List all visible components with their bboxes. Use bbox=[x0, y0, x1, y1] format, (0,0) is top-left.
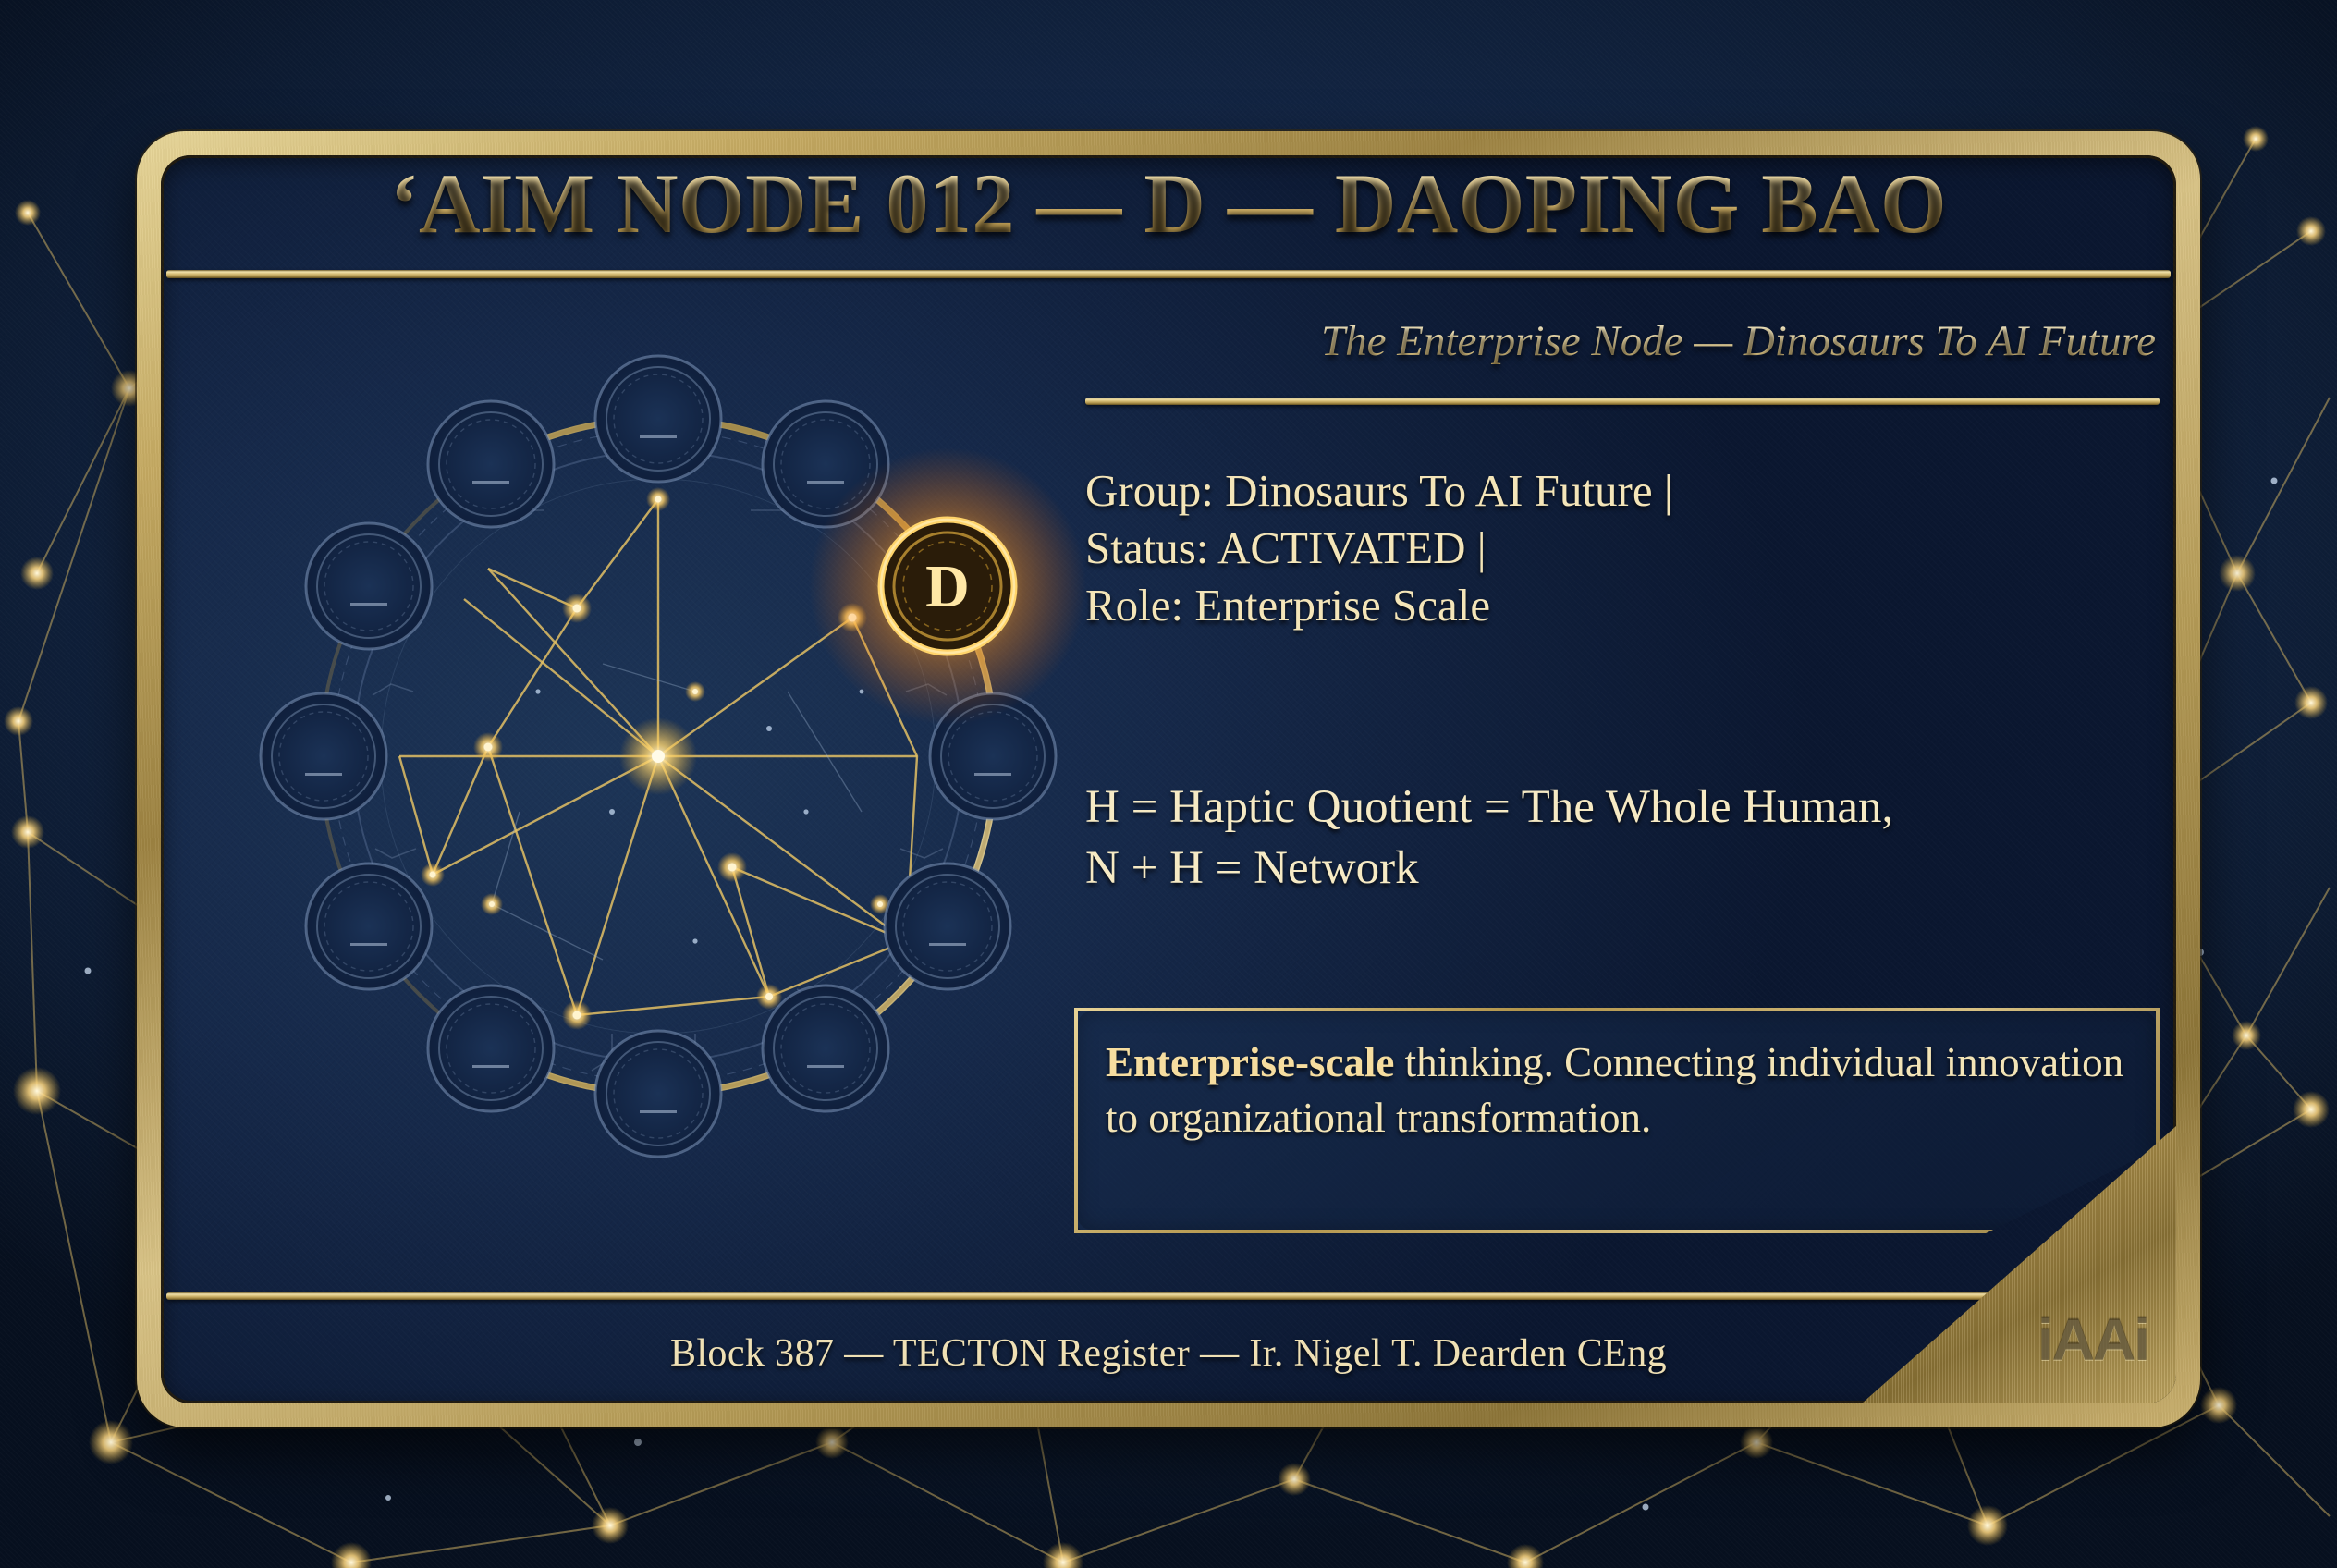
callout-panel: Enterprise-scale thinking. Connecting in… bbox=[1074, 1008, 2160, 1233]
ring-node bbox=[428, 401, 554, 527]
formula-block: H = Haptic Quotient = The Whole Human, N… bbox=[1085, 777, 2176, 900]
callout-lead: Enterprise-scale bbox=[1106, 1039, 1394, 1085]
active-node-d: D bbox=[809, 447, 1086, 725]
ring-node bbox=[306, 864, 432, 989]
ring-node bbox=[763, 986, 888, 1111]
active-node-letter: D bbox=[925, 553, 970, 620]
ring-node bbox=[428, 986, 554, 1111]
subtitle-divider bbox=[1085, 398, 2160, 405]
plaque-frame: ‘AIM NODE 012 — D — DAOPING BAO bbox=[137, 131, 2200, 1427]
node-network-diagram: D bbox=[214, 294, 1102, 1219]
ring-node bbox=[261, 693, 386, 819]
formula-line-n: N + H = Network bbox=[1085, 838, 2176, 899]
ring-node bbox=[306, 523, 432, 649]
callout-text: Enterprise-scale thinking. Connecting in… bbox=[1106, 1035, 2124, 1146]
meta-group: Group: Dinosaurs To AI Future | bbox=[1085, 462, 2167, 520]
footer-text: Block 387 — TECTON Register — Ir. Nigel … bbox=[161, 1331, 2176, 1376]
footer-divider bbox=[166, 1292, 2171, 1300]
ring-node bbox=[595, 1031, 721, 1157]
plaque-face: ‘AIM NODE 012 — D — DAOPING BAO bbox=[161, 155, 2176, 1403]
card-subtitle: The Enterprise Node — Dinosaurs To AI Fu… bbox=[1085, 318, 2156, 366]
metadata-block: Group: Dinosaurs To AI Future | Status: … bbox=[1085, 462, 2167, 635]
iaai-logo: iAAi bbox=[2037, 1305, 2148, 1374]
header-divider bbox=[166, 270, 2171, 278]
page-title: ‘AIM NODE 012 — D — DAOPING BAO bbox=[161, 161, 2176, 246]
ring-node bbox=[595, 356, 721, 482]
formula-line-h: H = Haptic Quotient = The Whole Human, bbox=[1085, 777, 2176, 838]
ring-node bbox=[885, 864, 1010, 989]
meta-status: Status: ACTIVATED | bbox=[1085, 520, 2167, 577]
meta-role: Role: Enterprise Scale bbox=[1085, 577, 2167, 634]
